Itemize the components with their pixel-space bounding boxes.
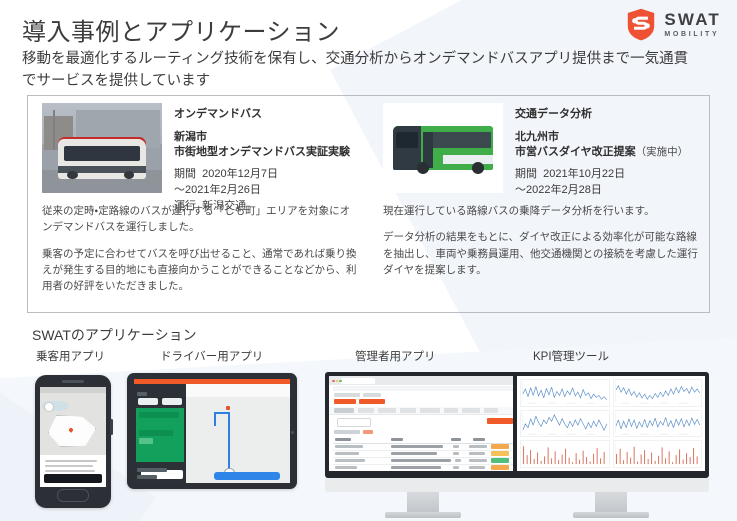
monitor-stand-neck xyxy=(407,492,439,512)
nav-tab[interactable] xyxy=(400,408,416,413)
kpi-chart-panel-2 xyxy=(613,379,703,407)
case-study-box: オンデマンドバス 新潟市 市街地型オンデマンドバス実証実験 期間 2020年12… xyxy=(27,95,710,313)
driver-active-job-card[interactable] xyxy=(136,408,184,462)
filter-label xyxy=(334,430,360,434)
case-study-card-1: オンデマンドバス 新潟市 市街地型オンデマンドバス実証実験 期間 2020年12… xyxy=(28,96,369,312)
nav-tab[interactable] xyxy=(462,408,480,413)
case-paragraph: 乗客の予定に合わせてバスを呼び出せること、通常であれば乗り換えが発生する目的地に… xyxy=(42,246,357,295)
window-maximize-icon[interactable] xyxy=(339,380,342,383)
case-paragraph: 従来の定時・定路線のバスが運行する「しも町」エリアを対象にオンデマンドバスを運行… xyxy=(42,203,357,236)
case-period-label: 期間 xyxy=(515,168,537,180)
navigation-cta-button[interactable] xyxy=(214,472,280,480)
nav-tab[interactable] xyxy=(378,408,396,413)
map-back-button[interactable] xyxy=(44,402,54,412)
kpi-chart-grid xyxy=(520,379,702,468)
case-project: 市街地型オンデマンドバス実証実験 xyxy=(174,145,361,160)
swat-mobility-logo-icon xyxy=(626,8,656,41)
booking-card xyxy=(40,455,106,487)
case-paragraph: データ分析の結果をもとに、ダイヤ改正による効率化が可能な路線を抽出し、車両や乗務… xyxy=(383,229,699,278)
search-input[interactable] xyxy=(337,418,371,427)
map-header xyxy=(186,384,290,397)
brand-logo-text: SWAT MOBILITY xyxy=(664,11,721,38)
passenger-app-screen xyxy=(40,387,106,487)
brand-name: SWAT xyxy=(664,11,721,28)
nav-tab[interactable] xyxy=(420,408,440,413)
case-city: 北九州市 xyxy=(515,130,703,145)
case-city: 新潟市 xyxy=(174,130,361,145)
window-close-icon[interactable] xyxy=(332,380,335,383)
device-monitor-kpi-tool xyxy=(513,372,709,520)
nav-tab[interactable] xyxy=(444,408,458,413)
case-study-card-2: 交通データ分析 北九州市 市営バスダイヤ改正提案（実施中） 期間 2021年10… xyxy=(369,96,711,312)
tablet-camera-icon xyxy=(291,431,294,434)
kpi-chart-panel-6 xyxy=(613,440,703,468)
device-monitor-admin-app xyxy=(325,372,521,520)
monitor-stand-neck xyxy=(595,492,627,512)
case-body: 現在運行している路線バスの乗降データ分析を行います。 データ分析の結果をもとに、… xyxy=(383,203,699,278)
case-photo-kitakyushu xyxy=(383,103,503,193)
filter-chip[interactable] xyxy=(363,430,373,434)
phone-speaker-icon xyxy=(62,380,84,383)
case-meta: 交通データ分析 北九州市 市営バスダイヤ改正提案（実施中） 期間 2021年10… xyxy=(515,103,703,199)
window-minimize-icon[interactable] xyxy=(336,380,339,383)
kpi-chart-panel-5 xyxy=(520,440,610,468)
case-category: 交通データ分析 xyxy=(515,105,703,121)
kpi-tool-screen xyxy=(517,376,705,471)
driver-map-view xyxy=(186,384,290,483)
case-category: オンデマンドバス xyxy=(174,105,361,121)
table-row[interactable] xyxy=(333,464,513,471)
map-view xyxy=(40,393,106,455)
monitor-stand-base xyxy=(385,512,461,518)
app-label-passenger: 乗客用アプリ xyxy=(36,348,105,364)
browser-address-bar[interactable] xyxy=(333,386,513,391)
admin-nav-strip xyxy=(329,407,517,415)
destination-marker-icon xyxy=(226,406,230,410)
case-paragraph: 現在運行している路線バスの乗降データ分析を行います。 xyxy=(383,203,699,219)
nav-tab-active[interactable] xyxy=(334,408,354,413)
phone-home-button[interactable] xyxy=(57,489,89,502)
apps-heading: SWATのアプリケーション xyxy=(32,325,197,345)
browser-chrome xyxy=(329,376,517,385)
case-header: オンデマンドバス 新潟市 市街地型オンデマンドバス実証実験 期間 2020年12… xyxy=(42,103,361,215)
primary-action-button[interactable] xyxy=(487,418,513,424)
page-title: 導入事例とアプリケーション xyxy=(22,12,340,47)
case-project-name: 市営バスダイヤ改正提案 xyxy=(515,146,636,158)
kpi-chart-panel-1 xyxy=(520,379,610,407)
case-meta: オンデマンドバス 新潟市 市街地型オンデマンドバス実証実験 期間 2020年12… xyxy=(174,103,361,215)
case-period-label: 期間 xyxy=(174,168,196,180)
case-project-name: 市街地型オンデマンドバス実証実験 xyxy=(174,146,350,158)
app-label-admin: 管理者用アプリ xyxy=(355,348,436,364)
case-period: 期間 2020年12月7日 ～2021年2月26日 xyxy=(174,167,361,199)
monitor-stand-base xyxy=(573,512,649,518)
device-tablet-driver-app xyxy=(127,373,297,489)
case-header: 交通データ分析 北九州市 市営バスダイヤ改正提案（実施中） 期間 2021年10… xyxy=(383,103,703,199)
nav-tab[interactable] xyxy=(484,408,498,413)
driver-app-screen xyxy=(134,379,290,483)
monitor-chin xyxy=(513,478,709,492)
kpi-chart-panel-3 xyxy=(520,410,610,438)
slide-root: 導入事例とアプリケーション 移動を最適化するルーティング技術を保有し、交通分析か… xyxy=(0,0,737,521)
page-subtitle: 移動を最適化するルーティング技術を保有し、交通分析からオンデマンドバスアプリ提供… xyxy=(22,48,694,93)
case-body: 従来の定時・定路線のバスが運行する「しも町」エリアを対象にオンデマンドバスを運行… xyxy=(42,203,357,294)
brand-tagline: MOBILITY xyxy=(664,31,721,38)
primary-cta-button[interactable] xyxy=(44,474,102,483)
monitor-chin xyxy=(325,478,521,492)
browser-tab[interactable] xyxy=(341,378,375,384)
phone-volume-button xyxy=(110,419,113,435)
case-period: 期間 2021年10月22日 ～2022年2月28日 xyxy=(515,167,703,199)
app-label-driver: ドライバー用アプリ xyxy=(160,348,263,364)
app-label-kpi: KPI管理ツール xyxy=(533,348,609,364)
nav-tab[interactable] xyxy=(358,408,374,413)
case-photo-niigata xyxy=(42,103,162,193)
case-project: 市営バスダイヤ改正提案（実施中） xyxy=(515,145,703,160)
kpi-chart-panel-4 xyxy=(613,410,703,438)
driver-side-panel xyxy=(134,384,186,483)
device-smartphone-passenger-app xyxy=(35,375,111,508)
admin-app-screen xyxy=(329,376,517,471)
case-project-note: （実施中） xyxy=(636,146,689,158)
brand-logo: SWAT MOBILITY xyxy=(626,8,721,41)
